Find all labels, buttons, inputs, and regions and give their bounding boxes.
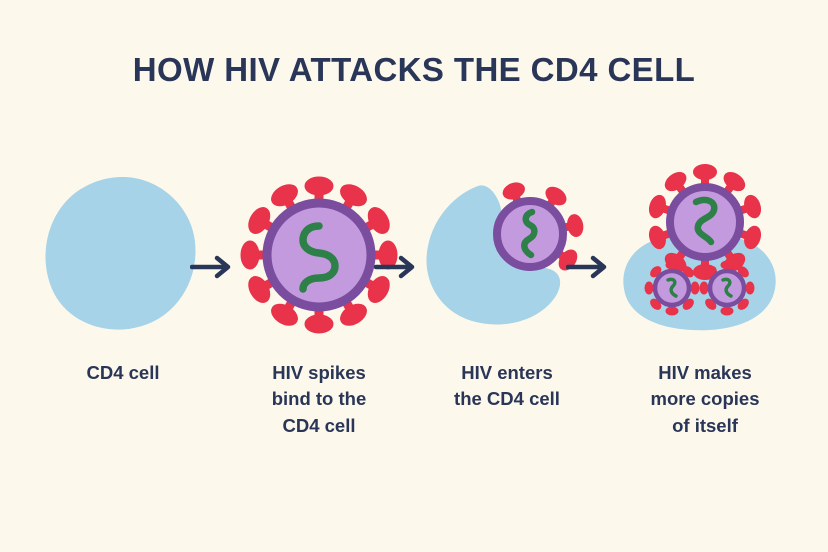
step-hiv-replicates: HIV makes more copies of itself [610, 160, 800, 480]
hiv-copy-1 [645, 261, 699, 315]
step-label-hiv-enters: HIV enters the CD4 cell [412, 360, 602, 413]
steps-row: CD4 cell [0, 160, 828, 480]
page-title: HOW HIV ATTACKS THE CD4 CELL [0, 52, 828, 88]
arrow-right-icon [566, 252, 612, 282]
label-line: CD4 cell [28, 360, 218, 386]
label-line: of itself [610, 413, 800, 439]
label-line: HIV spikes [224, 360, 414, 386]
step-label-hiv-replicates: HIV makes more copies of itself [610, 360, 800, 439]
label-line: bind to the [224, 386, 414, 412]
infographic-canvas: HOW HIV ATTACKS THE CD4 CELL CD4 cell [0, 0, 828, 552]
step-label-cd4-cell: CD4 cell [28, 360, 218, 386]
cd4-cell-blob-shape [45, 177, 195, 330]
step-cd4-cell: CD4 cell [28, 160, 218, 480]
label-line: more copies [610, 386, 800, 412]
step-hiv-enters: HIV enters the CD4 cell [412, 160, 602, 480]
hiv-copy-2 [700, 261, 754, 315]
label-line: HIV enters [412, 360, 602, 386]
step-label-hiv-spikes-bind: HIV spikes bind to the CD4 cell [224, 360, 414, 439]
label-line: HIV makes [610, 360, 800, 386]
hiv-copies-illustration [610, 160, 800, 350]
step-hiv-spikes-bind: HIV spikes bind to the CD4 cell [224, 160, 414, 480]
label-line: CD4 cell [224, 413, 414, 439]
label-line: the CD4 cell [412, 386, 602, 412]
